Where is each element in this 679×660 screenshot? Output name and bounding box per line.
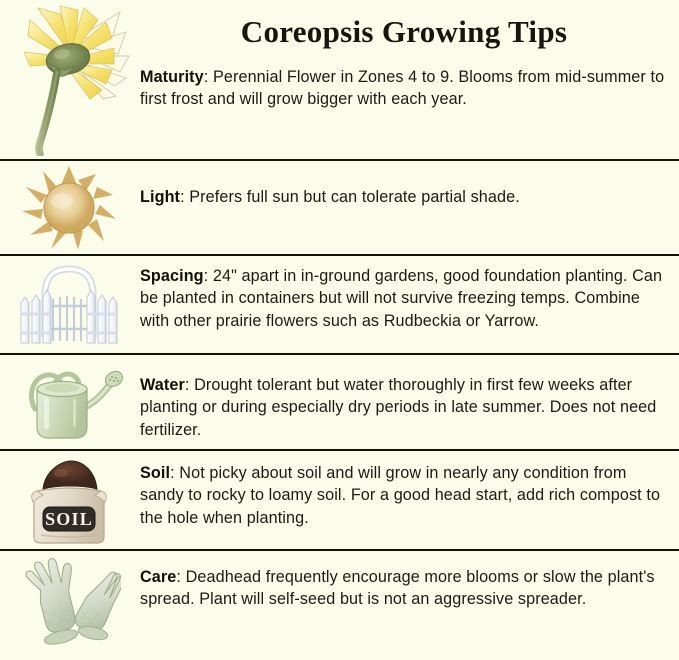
- section-body-spacing: 24" apart in in-ground gardens, good fou…: [140, 267, 662, 330]
- sun-icon: [0, 163, 138, 253]
- section-divider: [0, 254, 679, 256]
- section-label-water: Water: [140, 376, 185, 394]
- gardening-gloves-icon: [0, 553, 138, 653]
- watering-can-icon: [0, 358, 138, 448]
- garden-gate-fence-icon: [0, 258, 138, 352]
- section-label-maturity: Maturity: [140, 68, 204, 86]
- section-text-water: Water: Drought tolerant but water thorou…: [140, 374, 668, 441]
- section-body-maturity: Perennial Flower in Zones 4 to 9. Blooms…: [140, 68, 664, 108]
- section-text-light: Light: Prefers full sun but can tolerate…: [140, 186, 668, 208]
- section-divider: [0, 449, 679, 451]
- section-body-care: Deadhead frequently encourage more bloom…: [140, 568, 655, 608]
- growing-tips-infographic: Coreopsis Growing Tips: [0, 0, 679, 660]
- section-body-light: Prefers full sun but can tolerate partia…: [185, 188, 520, 206]
- section-label-care: Care: [140, 568, 176, 586]
- section-text-spacing: Spacing: 24" apart in in-ground gardens,…: [140, 265, 668, 332]
- coreopsis-flower-icon: [0, 2, 138, 158]
- section-label-light: Light: [140, 188, 180, 206]
- section-label-spacing: Spacing: [140, 267, 204, 285]
- section-divider: [0, 549, 679, 551]
- section-divider: [0, 159, 679, 161]
- section-text-maturity: Maturity: Perennial Flower in Zones 4 to…: [140, 66, 668, 111]
- section-label-soil: Soil: [140, 464, 170, 482]
- section-body-soil: Not picky about soil and will grow in ne…: [140, 464, 660, 527]
- section-divider: [0, 353, 679, 355]
- section-text-care: Care: Deadhead frequently encourage more…: [140, 566, 668, 611]
- section-body-water: Drought tolerant but water thoroughly in…: [140, 376, 656, 439]
- soil-bag-label: SOIL: [45, 509, 93, 529]
- soil-bag-icon: SOIL: [0, 453, 138, 548]
- page-title: Coreopsis Growing Tips: [140, 14, 668, 50]
- section-text-soil: Soil: Not picky about soil and will grow…: [140, 462, 668, 529]
